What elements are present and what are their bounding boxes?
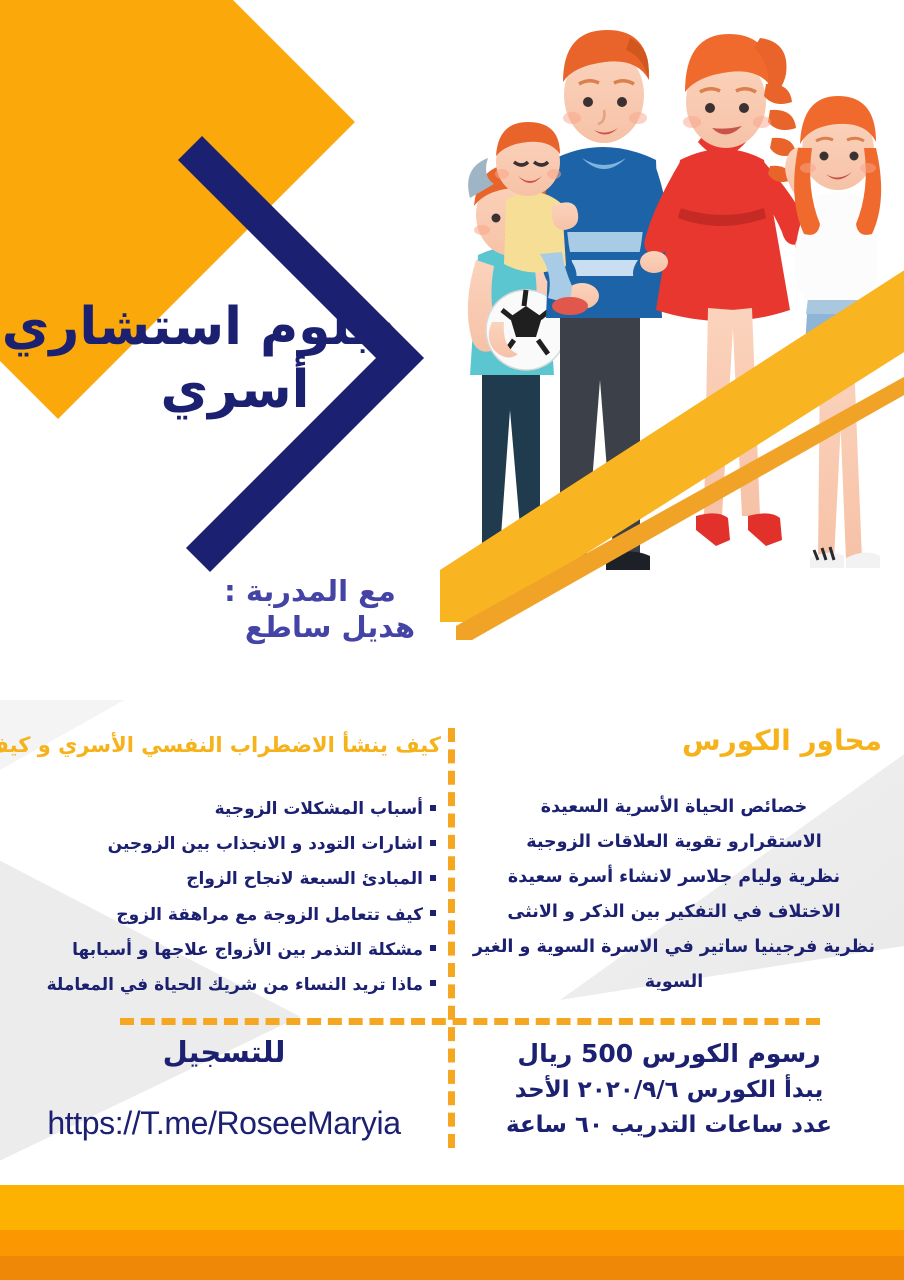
horizontal-dashed-divider bbox=[120, 1018, 820, 1025]
girl-figure bbox=[785, 96, 881, 568]
registration-url[interactable]: https://T.me/RoseeMaryia bbox=[14, 1105, 434, 1142]
family-illustration bbox=[430, 10, 904, 630]
square-bullet-icon bbox=[430, 910, 436, 916]
trainer-credit: مع المدربة : هديل ساطع bbox=[160, 575, 460, 645]
course-topics-heading: محاور الكورس bbox=[682, 724, 882, 757]
disorder-topics-list: أسباب المشكلات الزوجية اشارات التودد و ا… bbox=[11, 792, 436, 1003]
list-item: المبادئ السبعة لانجاح الزواج bbox=[11, 862, 436, 897]
list-item: نظرية فرجينيا ساتير في الاسرة السوية و ا… bbox=[454, 930, 894, 1000]
trainer-role-label: مع المدربة : bbox=[160, 575, 460, 608]
course-details-block: رسوم الكورس 500 ريال يبدأ الكورس ٢٠٢٠/٩/… bbox=[454, 1035, 884, 1143]
course-poster: دبلوم استشاري أسري مع المدربة : هديل ساط… bbox=[0, 0, 904, 1280]
title-line-1: دبلوم استشاري bbox=[0, 300, 400, 355]
list-item: ماذا تريد النساء من شريك الحياة في المعا… bbox=[11, 968, 436, 1003]
square-bullet-icon bbox=[430, 805, 436, 811]
list-item: الاختلاف في التفكير بين الذكر و الانثى bbox=[454, 895, 894, 930]
footer-bar-primary bbox=[0, 1185, 904, 1230]
course-topics-list: خصائص الحياة الأسرية السعيدة الاستقرارو … bbox=[454, 790, 894, 1000]
trainer-name: هديل ساطع bbox=[160, 610, 500, 645]
poster-title: دبلوم استشاري أسري bbox=[0, 300, 400, 420]
square-bullet-icon bbox=[430, 945, 436, 951]
list-item: خصائص الحياة الأسرية السعيدة bbox=[454, 790, 894, 825]
list-item: أسباب المشكلات الزوجية bbox=[11, 792, 436, 827]
list-item: مشكلة التذمر بين الأزواج علاجها و أسبابه… bbox=[11, 933, 436, 968]
title-line-2: أسري bbox=[0, 361, 470, 421]
content-section: محاور الكورس خصائص الحياة الأسرية السعيد… bbox=[0, 700, 904, 1190]
square-bullet-icon bbox=[430, 980, 436, 986]
footer-bars bbox=[0, 1185, 904, 1280]
square-bullet-icon bbox=[430, 875, 436, 881]
list-item: نظرية وليام جلاسر لانشاء أسرة سعيدة bbox=[454, 860, 894, 895]
course-hours-line: عدد ساعات التدريب ٦٠ ساعة bbox=[454, 1108, 884, 1143]
square-bullet-icon bbox=[430, 840, 436, 846]
list-item: الاستقرارو تقوية العلاقات الزوجية bbox=[454, 825, 894, 860]
registration-label: للتسجيل bbox=[14, 1035, 434, 1069]
hero-section: دبلوم استشاري أسري مع المدربة : هديل ساط… bbox=[0, 0, 904, 700]
list-item: اشارات التودد و الانجذاب بين الزوجين bbox=[11, 827, 436, 862]
mother-figure bbox=[640, 34, 821, 546]
footer-bar-secondary bbox=[0, 1230, 904, 1256]
registration-block: للتسجيل https://T.me/RoseeMaryia bbox=[14, 1035, 434, 1142]
course-fee-line: رسوم الكورس 500 ريال bbox=[454, 1035, 884, 1073]
disorder-topics-heading: كيف ينشأ الاضطراب النفسي الأسري و كيف نع… bbox=[0, 733, 441, 757]
course-start-date-line: يبدأ الكورس ٢٠٢٠/٩/٦ الأحد bbox=[454, 1073, 884, 1108]
list-item: كيف تتعامل الزوجة مع مراهقة الزوج bbox=[11, 898, 436, 933]
footer-bar-tertiary bbox=[0, 1256, 904, 1280]
